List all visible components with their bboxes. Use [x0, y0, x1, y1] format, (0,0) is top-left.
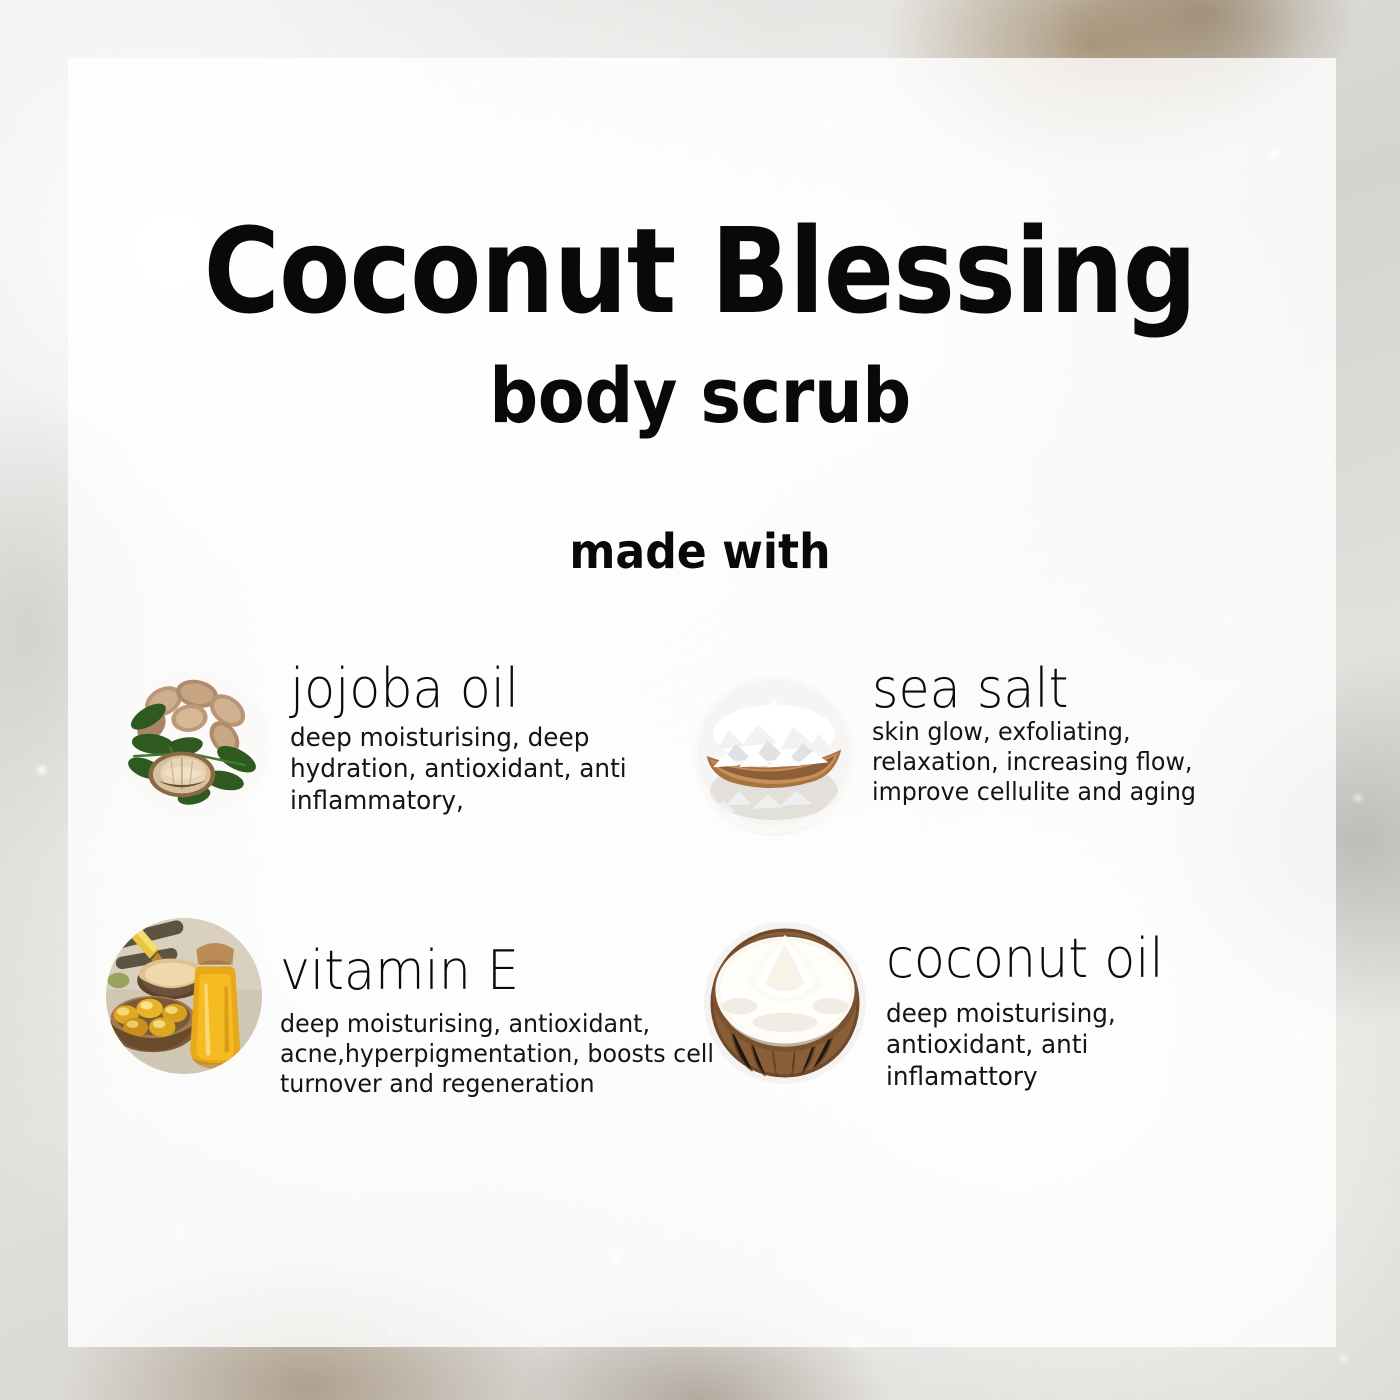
ingredient-description: skin glow, exfoliating, relaxation, incr… — [872, 717, 1252, 807]
ingredient-description: deep moisturising, antioxidant, acne,hyp… — [280, 1009, 717, 1099]
ingredient-name: coconut oil — [886, 930, 1206, 987]
sea-salt-spoon-photo — [694, 676, 854, 836]
jojoba-nuts-photo — [118, 668, 270, 820]
product-subtitle-block: body scrub — [0, 358, 1400, 434]
ingredient-item-vitamin-e: vitamin E deep moisturising, antioxidant… — [68, 910, 702, 1170]
product-title-block: Coconut Blessing — [0, 212, 1400, 330]
made-with-block: made with — [0, 528, 1400, 576]
ingredient-description: deep moisturising, deep hydration, antio… — [290, 723, 689, 817]
ingredients-grid: jojoba oil deep moisturising, deep hydra… — [68, 660, 1336, 1180]
ingredient-text-vitamin-e: vitamin E deep moisturising, antioxidant… — [280, 942, 740, 1099]
made-with-label: made with — [56, 528, 1344, 576]
ingredient-item-jojoba-oil: jojoba oil deep moisturising, deep hydra… — [68, 660, 702, 920]
ingredient-text-sea-salt: sea salt skin glow, exfoliating, relaxat… — [872, 660, 1272, 807]
product-infographic-poster: Coconut Blessing body scrub made with — [0, 0, 1400, 1400]
ingredient-item-sea-salt: sea salt skin glow, exfoliating, relaxat… — [686, 660, 1320, 920]
page-title: Coconut Blessing — [84, 212, 1316, 330]
ingredient-name: vitamin E — [280, 942, 712, 999]
product-type-subtitle: body scrub — [70, 358, 1330, 434]
ingredient-text-jojoba-oil: jojoba oil deep moisturising, deep hydra… — [290, 660, 710, 817]
ingredient-text-coconut-oil: coconut oil deep moisturising, antioxida… — [886, 930, 1226, 1093]
ingredient-name: sea salt — [872, 660, 1248, 717]
coconut-oil-bowl-photo — [704, 922, 866, 1084]
ingredient-description: deep moisturising, antioxidant, anti inf… — [886, 999, 1209, 1093]
ingredient-item-coconut-oil: coconut oil deep moisturising, antioxida… — [696, 910, 1330, 1170]
vitamin-e-oil-bottle-photo — [106, 918, 262, 1074]
ingredient-name: jojoba oil — [290, 660, 685, 717]
